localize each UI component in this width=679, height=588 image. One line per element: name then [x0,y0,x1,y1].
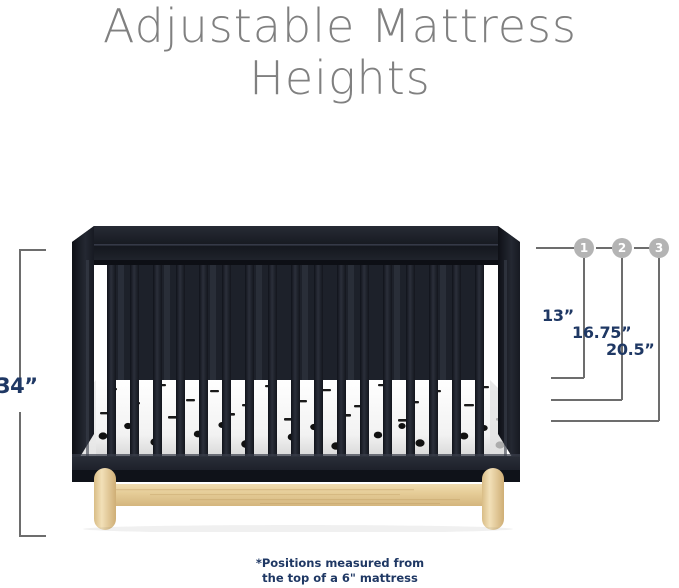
overall-height-dimension: 34” [0,240,60,545]
marker-3-measurement: 20.5” [606,340,655,359]
marker-3-lead-dash [634,247,650,249]
marker-2-elbow [551,399,622,401]
mattress-position-markers: 1 13” 2 16.75” 3 20.5” [528,228,679,438]
marker-1-elbow [551,377,584,379]
marker-3-badge[interactable]: 3 [649,238,669,258]
wood-leg-left [94,468,116,530]
dimension-line-lower [19,412,21,536]
crib-top-rail [72,226,520,265]
dimension-cap-bottom [19,535,46,537]
marker-1-measurement: 13” [542,306,574,325]
marker-2-lead-dash [596,247,612,249]
marker-1-badge[interactable]: 1 [574,238,594,258]
footnote-text: *Positions measured from the top of a 6"… [160,556,520,586]
marker-1-drop-line [583,258,585,378]
marker-1-lead-dash [536,247,574,249]
crib-bottom-rail [72,454,520,482]
crib-illustration [60,220,532,532]
overall-height-label: 34” [0,374,38,398]
dimension-cap-top [19,249,46,251]
page-title: Adjustable Mattress Heights [60,0,620,104]
crib-svg [60,220,532,532]
wood-leg-right [482,468,504,530]
marker-3-drop-line [658,258,660,421]
marker-2-badge[interactable]: 2 [612,238,632,258]
infographic-page: Adjustable Mattress Heights [0,0,679,588]
dimension-line-upper [19,250,21,378]
marker-3-elbow [551,420,659,422]
ground-shadow [83,525,513,532]
